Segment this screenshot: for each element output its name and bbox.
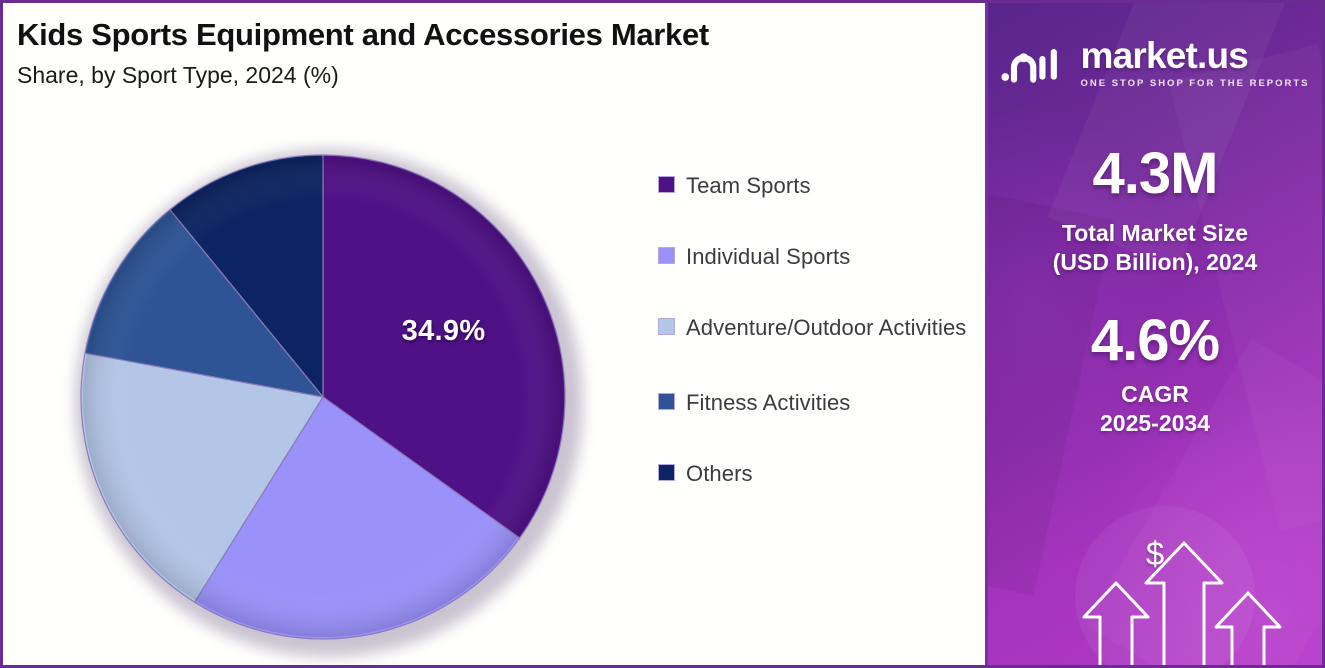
cagr-caption-line1: CAGR [988, 380, 1322, 409]
cagr-caption-line2: 2025-2034 [988, 409, 1322, 438]
legend-item-label: Adventure/Outdoor Activities [686, 313, 966, 342]
market-size-caption-line2: (USD Billion), 2024 [988, 248, 1322, 277]
legend-item[interactable]: Others [658, 459, 968, 488]
legend-swatch-icon [658, 247, 675, 264]
legend-item[interactable]: Team Sports [658, 171, 968, 200]
chart-pane: Kids Sports Equipment and Accessories Ma… [3, 3, 985, 665]
legend-item-label: Individual Sports [686, 242, 850, 271]
legend-item[interactable]: Individual Sports [658, 242, 968, 271]
pie-edge-shade [83, 157, 563, 637]
page-title: Kids Sports Equipment and Accessories Ma… [17, 17, 985, 53]
market-size-caption: Total Market Size (USD Billion), 2024 [988, 219, 1322, 278]
stats-sidebar: market.us ONE STOP SHOP FOR THE REPORTS … [985, 3, 1322, 665]
market-size-value: 4.3M [988, 145, 1322, 203]
legend-item[interactable]: Fitness Activities [658, 388, 968, 417]
legend-item[interactable]: Adventure/Outdoor Activities [658, 313, 968, 342]
cagr-caption: CAGR 2025-2034 [988, 380, 1322, 439]
chart-header: Kids Sports Equipment and Accessories Ma… [3, 3, 985, 89]
legend-item-label: Others [686, 459, 753, 488]
brand-text-block: market.us ONE STOP SHOP FOR THE REPORTS [1080, 37, 1309, 89]
pie-svg [69, 141, 581, 653]
market-report-card: Kids Sports Equipment and Accessories Ma… [0, 0, 1325, 668]
pie-data-label-team-sports: 34.9% [382, 315, 506, 348]
chart-legend: Team SportsIndividual SportsAdventure/Ou… [658, 171, 968, 530]
market-us-logo-icon [1000, 41, 1070, 85]
legend-swatch-icon [658, 464, 675, 481]
brand-name: market.us [1080, 37, 1309, 74]
page-subtitle: Share, by Sport Type, 2024 (%) [17, 62, 985, 90]
legend-item-label: Fitness Activities [686, 388, 850, 417]
growth-arrows-icon [988, 539, 1322, 665]
legend-item-label: Team Sports [686, 171, 811, 200]
brand-logo: market.us ONE STOP SHOP FOR THE REPORTS [988, 37, 1322, 89]
legend-swatch-icon [658, 318, 675, 335]
cagr-value: 4.6% [988, 312, 1322, 370]
pie-chart: 34.9% [69, 141, 589, 661]
brand-tagline: ONE STOP SHOP FOR THE REPORTS [1080, 78, 1309, 89]
decor-shape-2 [1168, 44, 1322, 531]
legend-swatch-icon [658, 393, 675, 410]
legend-swatch-icon [658, 176, 675, 193]
market-size-caption-line1: Total Market Size [988, 219, 1322, 248]
